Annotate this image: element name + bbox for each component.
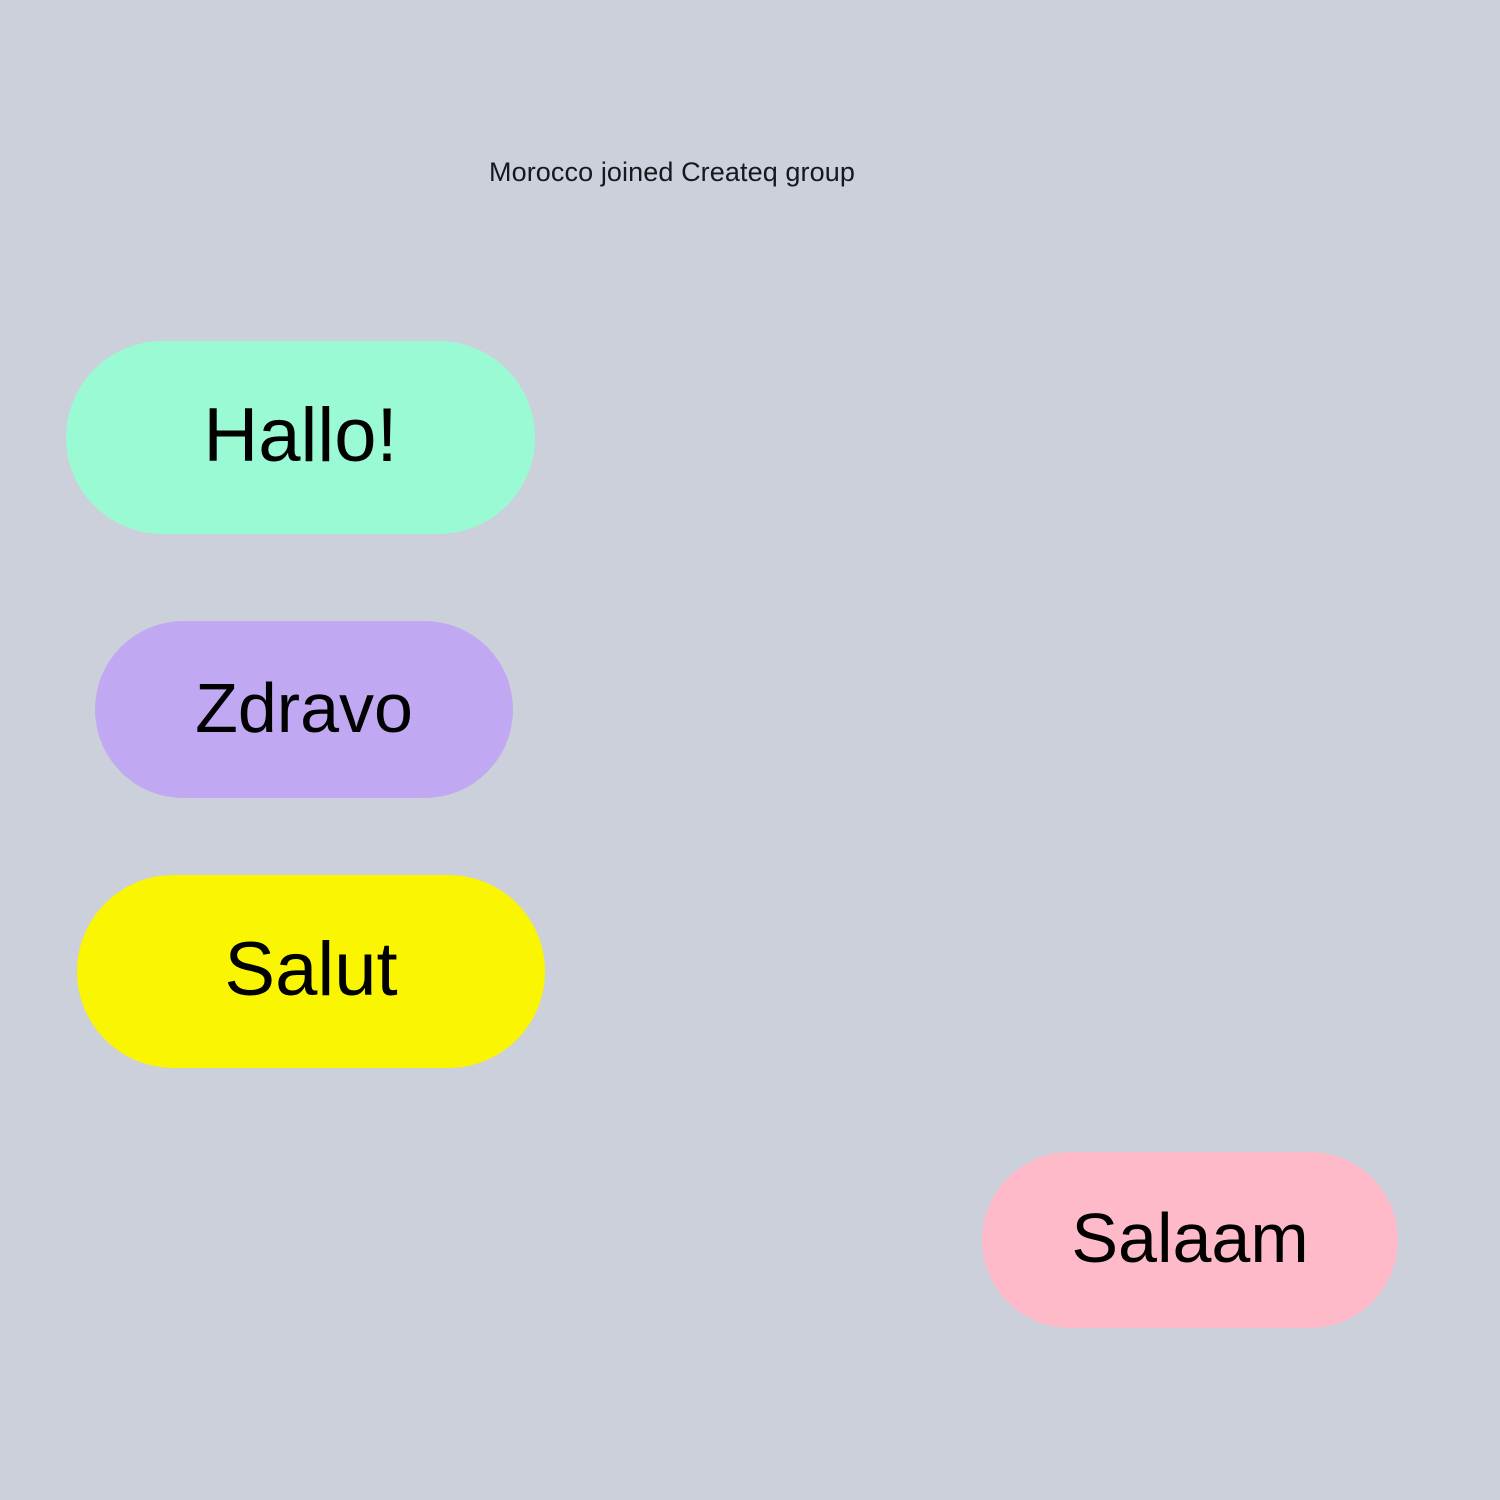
message-text: Hallo!: [203, 398, 397, 478]
message-bubble-salut[interactable]: Salut: [77, 875, 545, 1068]
message-text: Salut: [224, 932, 397, 1012]
message-bubble-hallo[interactable]: Hallo!: [66, 341, 535, 534]
chat-canvas: Morocco joined Createq group Hallo! Zdra…: [0, 0, 1500, 1500]
message-bubble-zdravo[interactable]: Zdravo: [95, 621, 513, 798]
system-notice: Morocco joined Createq group: [0, 155, 1500, 189]
message-text: Zdravo: [195, 673, 413, 747]
system-notice-text: Morocco joined Createq group: [489, 155, 855, 189]
message-text: Salaam: [1071, 1203, 1308, 1277]
message-bubble-salaam[interactable]: Salaam: [982, 1152, 1398, 1328]
